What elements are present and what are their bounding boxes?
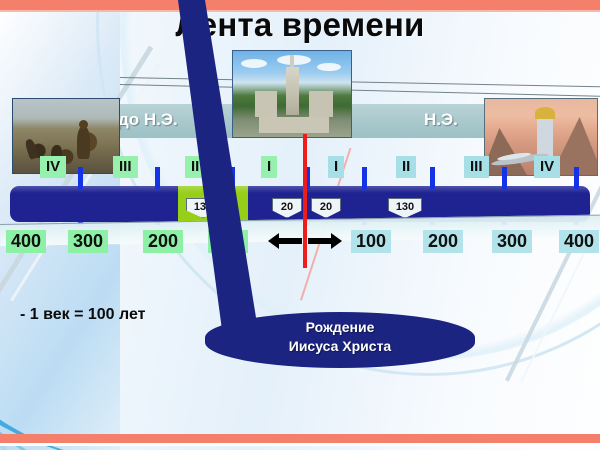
plaza (259, 117, 329, 133)
arrow-right (308, 231, 342, 251)
century-label-ad-3: III (464, 156, 489, 178)
year-label-bc-2: 300 (68, 230, 108, 253)
century-label-ad-2: II (396, 156, 416, 178)
timeline-tick-top-5 (362, 167, 367, 189)
century-label-ad-1: I (328, 156, 344, 178)
timeline-tick-top-8 (574, 167, 579, 189)
golden-dome (535, 107, 555, 119)
main-tower (286, 67, 299, 115)
tower-wing-right (309, 91, 333, 117)
tower-wing-left (255, 91, 277, 117)
slide-canvas: Лента времени до Н.Э. Н.Э. (0, 0, 600, 450)
bottom-accent-bar (0, 434, 600, 443)
year-label-ad-1: 100 (351, 230, 391, 253)
year-label-ad-2: 200 (423, 230, 463, 253)
page-title: Лента времени (0, 6, 600, 44)
birth-of-christ-marker (303, 134, 307, 268)
moscow-university-image (233, 51, 351, 137)
cloud-1 (241, 59, 267, 68)
arrow-left (268, 231, 302, 251)
bottom-accent-bar-shadow (0, 443, 600, 446)
timeline-tick-top-6 (430, 167, 435, 189)
timeline-tick-top-3 (230, 167, 235, 189)
callout-line-2: Иисуса Христа (205, 337, 475, 356)
year-label-ad-3: 300 (492, 230, 532, 253)
era-label-bc: до Н.Э. (118, 110, 178, 130)
century-note: - 1 век = 100 лет (20, 306, 146, 324)
century-label-bc-1: IV (40, 156, 66, 178)
cloud-3 (317, 63, 341, 71)
century-label-bc-3: II (185, 156, 205, 178)
timeline-tick-top-1 (78, 167, 83, 189)
callout-text: Рождение Иисуса Христа (205, 318, 475, 356)
year-label-bc-4: 100 (208, 230, 248, 253)
figure-left (24, 138, 39, 160)
era-label-ad: Н.Э. (424, 110, 458, 130)
timeline-tick-top-2 (155, 167, 160, 189)
year-label-ad-4: 400 (559, 230, 599, 253)
cloud-2 (277, 55, 311, 65)
year-label-bc-1: 400 (6, 230, 46, 253)
century-label-bc-2: III (113, 156, 138, 178)
moscow-university-photo (232, 50, 352, 138)
timeline-tick-top-7 (502, 167, 507, 189)
century-label-bc-4: I (261, 156, 277, 178)
century-label-ad-4: IV (534, 156, 560, 178)
figure-right (77, 126, 90, 159)
callout-line-1: Рождение (205, 318, 475, 337)
year-label-bc-3: 200 (143, 230, 183, 253)
